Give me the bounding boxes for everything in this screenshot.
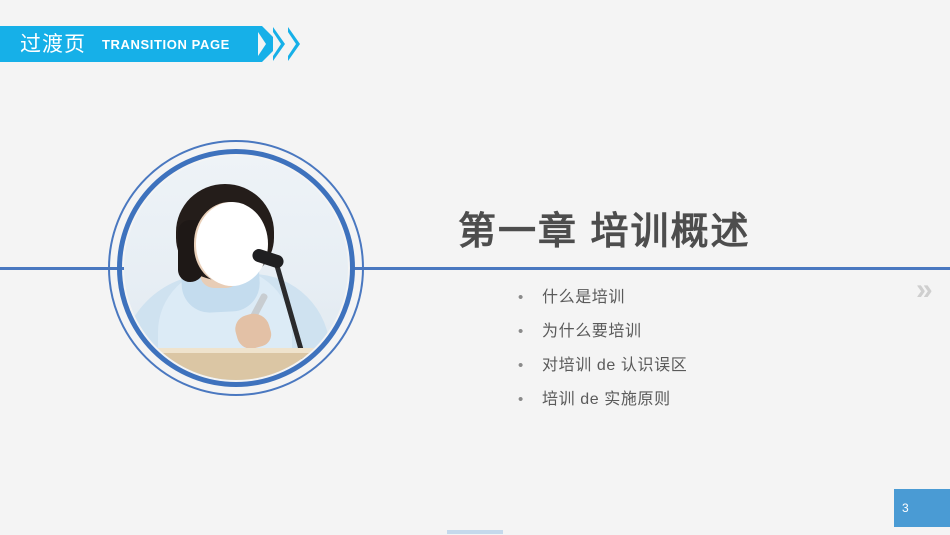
list-item[interactable]: • 对培训 de 认识误区 [518, 351, 687, 385]
bottom-accent-bar [447, 530, 503, 534]
chevron-right-icon [273, 27, 285, 61]
list-item-label: 为什么要培训 [542, 317, 642, 341]
bullet-dot-icon: • [518, 323, 542, 340]
page-number-label: 3 [902, 501, 909, 515]
banner-title-english: TRANSITION PAGE [102, 38, 230, 51]
bullet-dot-icon: • [518, 289, 542, 306]
list-item-label: 培训 de 实施原则 [542, 385, 671, 409]
banner-title-chinese: 过渡页 [20, 34, 86, 55]
photo-ring-outer [108, 140, 364, 396]
slide-canvas: 过渡页 TRANSITION PAGE 第 [0, 0, 950, 535]
banner-chevron-group [258, 26, 300, 62]
list-item[interactable]: • 培训 de 实施原则 [518, 385, 687, 419]
chevron-right-icon [258, 27, 270, 61]
double-chevron-right-icon: » [916, 275, 931, 305]
list-item-label: 对培训 de 认识误区 [542, 351, 687, 375]
bullet-dot-icon: • [518, 391, 542, 408]
list-item-label: 什么是培训 [542, 283, 625, 307]
speaker-photo-circle [108, 140, 364, 396]
page-number-badge: 3 [894, 489, 950, 527]
list-item[interactable]: • 什么是培训 [518, 283, 687, 317]
chapter-title: 第一章 培训概述 [458, 211, 751, 255]
topic-list: • 什么是培训 • 为什么要培训 • 对培训 de 认识误区 • 培训 de 实… [518, 283, 687, 419]
bullet-dot-icon: • [518, 357, 542, 374]
divider-line-right [352, 267, 950, 270]
transition-page-banner: 过渡页 TRANSITION PAGE [0, 26, 262, 62]
chevron-right-icon [288, 27, 300, 61]
list-item[interactable]: • 为什么要培训 [518, 317, 687, 351]
